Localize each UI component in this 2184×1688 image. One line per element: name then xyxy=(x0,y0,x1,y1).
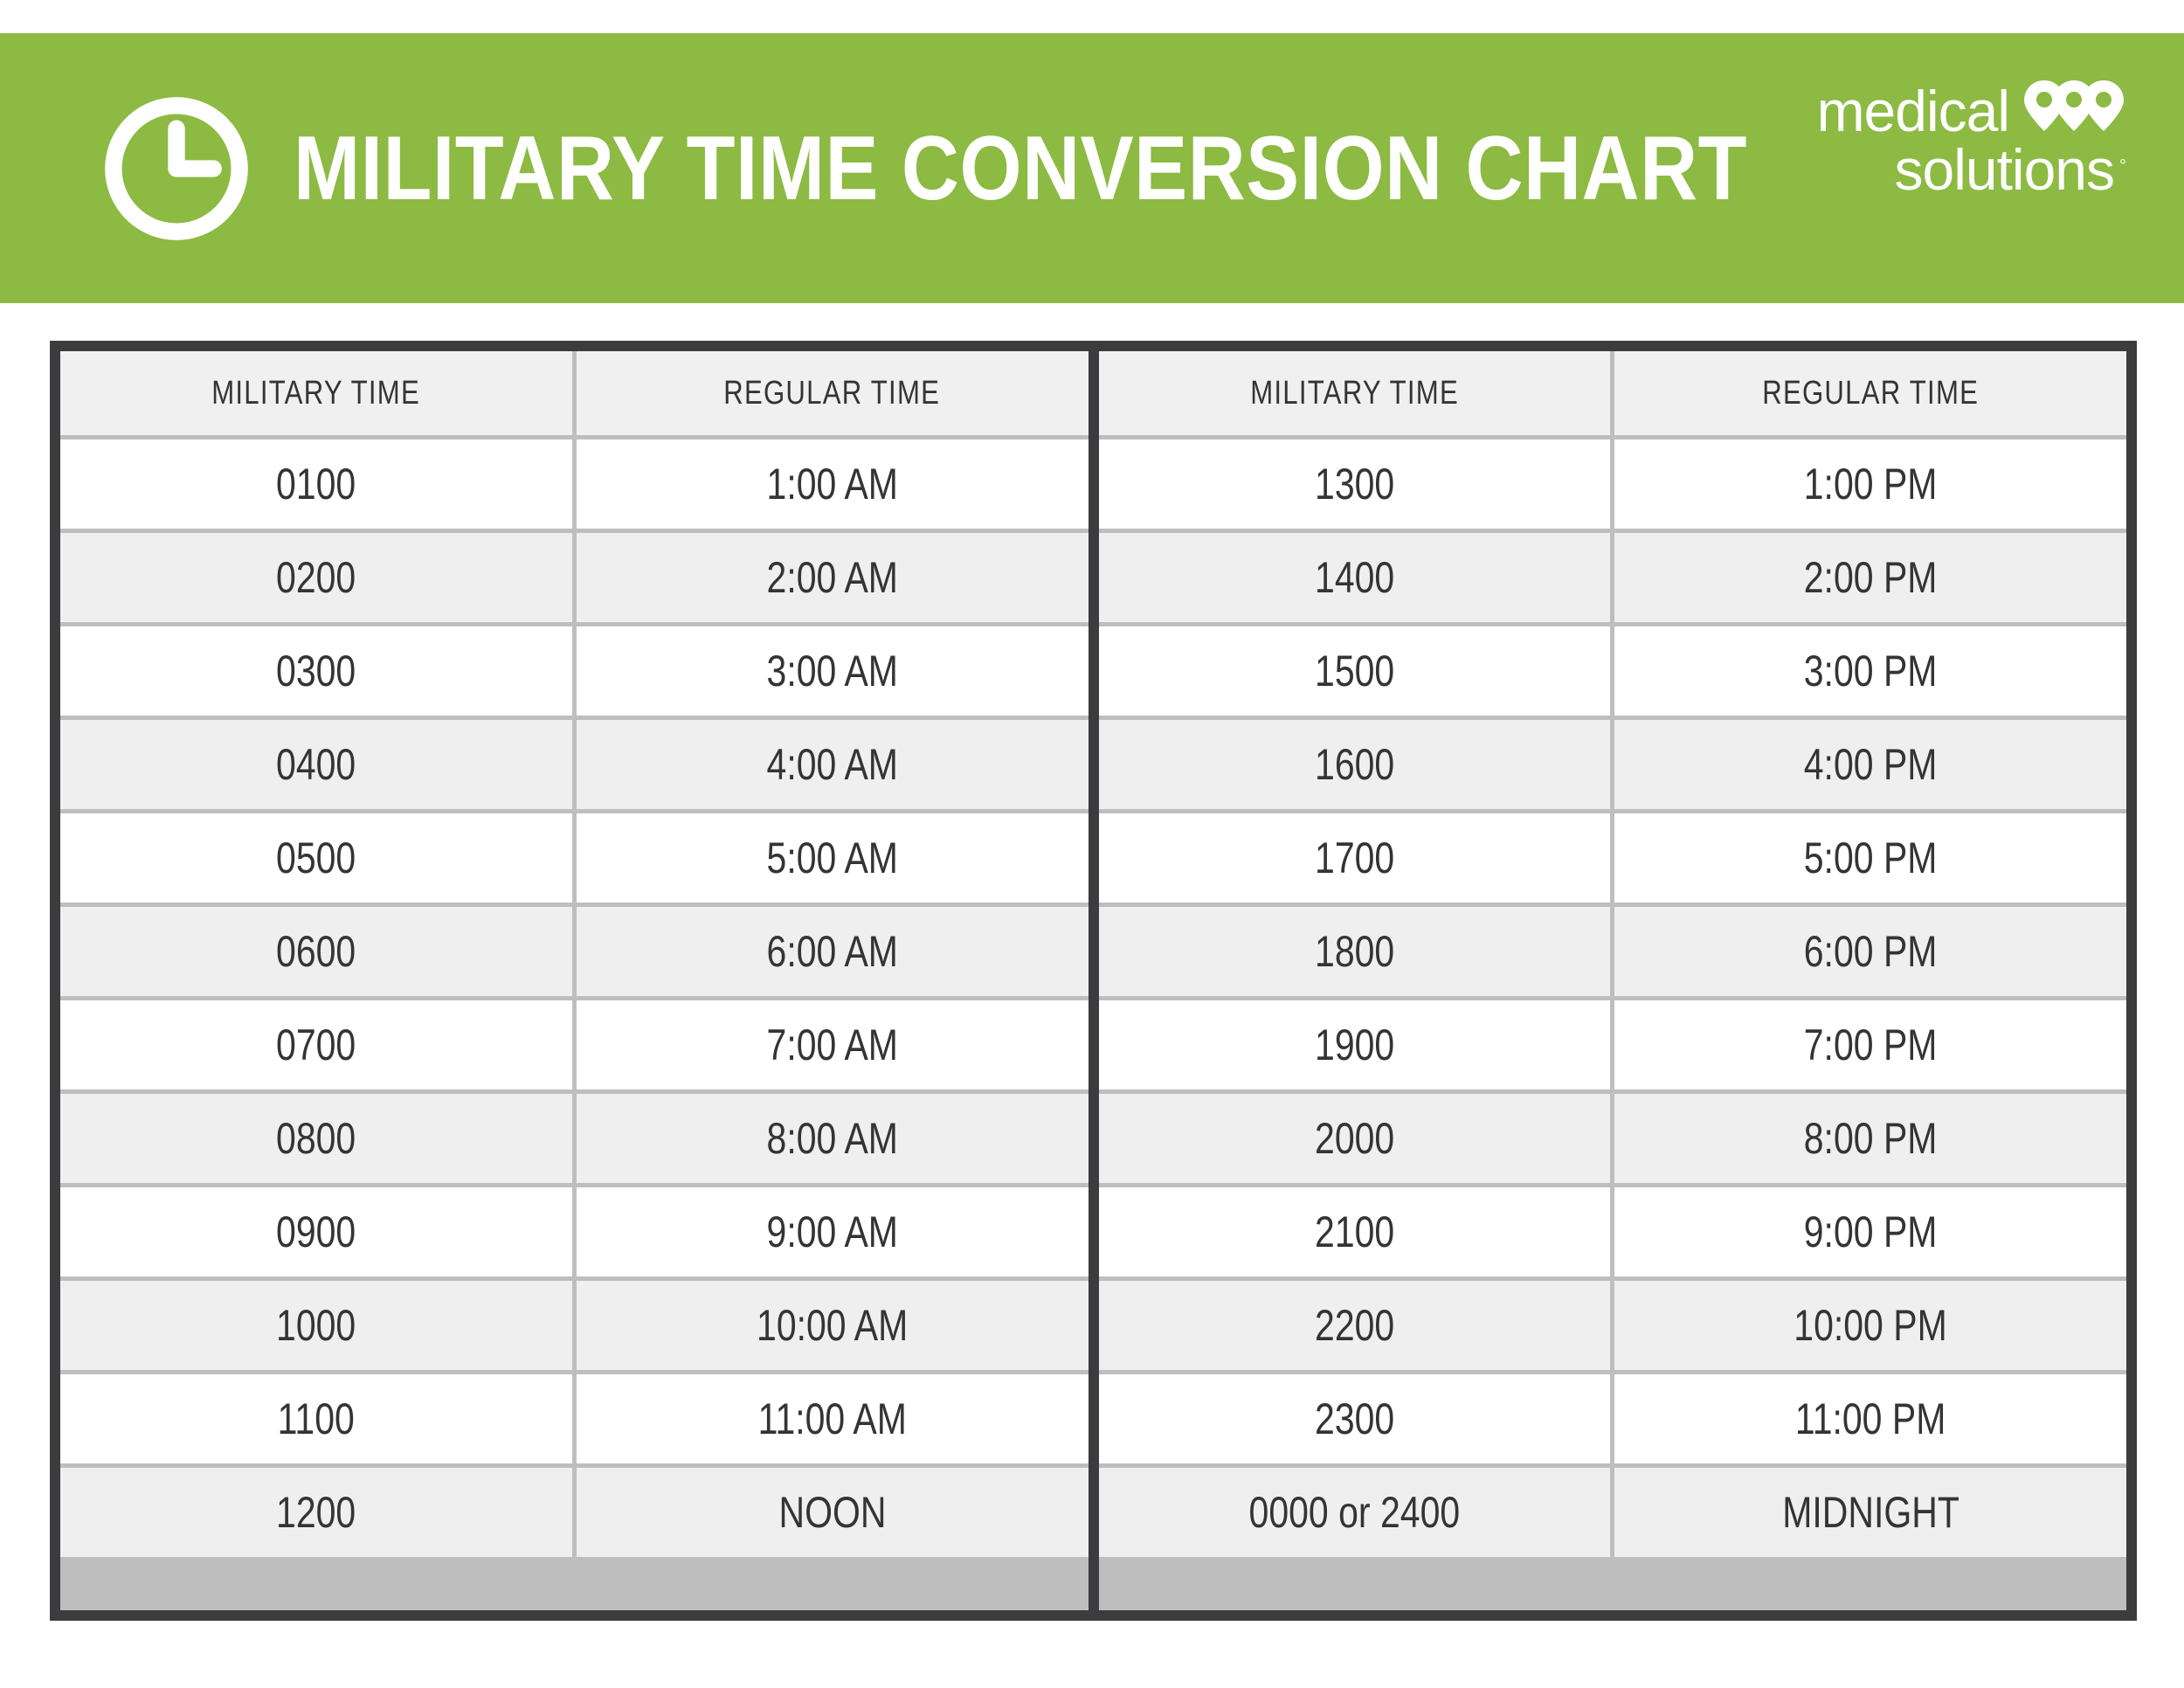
cell-value: NOON xyxy=(778,1468,886,1557)
table-row: 1200NOON xyxy=(60,1468,1089,1557)
cell-military-time: 1900 xyxy=(1099,1000,1611,1090)
cell-value: 2100 xyxy=(1315,1187,1394,1276)
cell-regular-time: 11:00 AM xyxy=(577,1374,1089,1463)
cell-regular-time: 5:00 PM xyxy=(1614,813,2126,903)
military-time-conversion-chart-page: MILITARY TIME CONVERSION CHART medical s… xyxy=(0,0,2184,1688)
column-header-label: REGULAR TIME xyxy=(724,351,941,435)
cell-military-time: 0300 xyxy=(60,626,572,716)
cell-regular-time: 5:00 AM xyxy=(577,813,1089,903)
cell-regular-time: 2:00 PM xyxy=(1614,533,2126,622)
cell-regular-time: 2:00 AM xyxy=(577,533,1089,622)
table-row: 110011:00 AM xyxy=(60,1374,1089,1463)
cell-regular-time: 7:00 AM xyxy=(577,1000,1089,1090)
cell-value: 9:00 AM xyxy=(766,1187,897,1276)
cell-regular-time: 8:00 PM xyxy=(1614,1094,2126,1183)
table-header-row: MILITARY TIMEREGULAR TIME xyxy=(1099,351,2127,435)
cell-value: 8:00 PM xyxy=(1804,1094,1938,1183)
cell-military-time: 0200 xyxy=(60,533,572,622)
table-row: 15003:00 PM xyxy=(1099,626,2127,716)
cell-military-time: 2100 xyxy=(1099,1187,1611,1276)
cell-regular-time: 3:00 PM xyxy=(1614,626,2126,716)
table-row: 07007:00 AM xyxy=(60,1000,1089,1090)
table-row: 06006:00 AM xyxy=(60,907,1089,996)
column-header-label: MILITARY TIME xyxy=(1250,351,1459,435)
cell-military-time: 1500 xyxy=(1099,626,1611,716)
table-row: 14002:00 PM xyxy=(1099,533,2127,622)
cell-value: 2300 xyxy=(1315,1374,1394,1463)
cell-value: 0600 xyxy=(276,907,356,996)
cell-value: 1800 xyxy=(1315,907,1394,996)
cell-military-time: 1700 xyxy=(1099,813,1611,903)
cell-value: 0300 xyxy=(276,626,356,716)
cell-regular-time: 10:00 PM xyxy=(1614,1281,2126,1370)
cell-regular-time: 9:00 PM xyxy=(1614,1187,2126,1276)
cell-value: 1:00 PM xyxy=(1804,439,1938,529)
cell-military-time: 1300 xyxy=(1099,439,1611,529)
cell-value: 1700 xyxy=(1315,813,1394,903)
brand-name-line-2: solutions xyxy=(1895,143,2115,197)
cell-value: 3:00 AM xyxy=(766,626,897,716)
header-left-group: MILITARY TIME CONVERSION CHART xyxy=(100,92,1946,246)
cell-value: 5:00 AM xyxy=(766,813,897,903)
table-center-divider xyxy=(1089,351,1099,1610)
brand-line-1-row: medical xyxy=(1817,79,2126,138)
cell-military-time: 2000 xyxy=(1099,1094,1611,1183)
column-header-military-time: MILITARY TIME xyxy=(1099,351,1611,435)
cell-value: 8:00 AM xyxy=(766,1094,897,1183)
cell-military-time: 1600 xyxy=(1099,720,1611,809)
cell-regular-time: 8:00 AM xyxy=(577,1094,1089,1183)
cell-regular-time: 1:00 AM xyxy=(577,439,1089,529)
cell-value: 0400 xyxy=(276,720,356,809)
cell-value: 4:00 PM xyxy=(1804,720,1938,809)
cell-value: 10:00 AM xyxy=(757,1281,908,1370)
table-row: 19007:00 PM xyxy=(1099,1000,2127,1090)
registered-trademark-mark: ° xyxy=(2119,157,2126,175)
cell-regular-time: 3:00 AM xyxy=(577,626,1089,716)
column-header-regular-time: REGULAR TIME xyxy=(1614,351,2126,435)
column-header-regular-time: REGULAR TIME xyxy=(577,351,1089,435)
cell-value: 0700 xyxy=(276,1000,356,1090)
column-header-label: REGULAR TIME xyxy=(1762,351,1979,435)
cell-value: 10:00 PM xyxy=(1794,1281,1946,1370)
brand-logo: medical solutions ° xyxy=(1817,79,2126,197)
table-row: 20008:00 PM xyxy=(1099,1094,2127,1183)
cell-value: 2:00 AM xyxy=(766,533,897,622)
cell-military-time: 2300 xyxy=(1099,1374,1611,1463)
cell-value: 2200 xyxy=(1315,1281,1394,1370)
table-row: 03003:00 AM xyxy=(60,626,1089,716)
table-row: 17005:00 PM xyxy=(1099,813,2127,903)
table-row: 13001:00 PM xyxy=(1099,439,2127,529)
cell-regular-time: MIDNIGHT xyxy=(1614,1468,2126,1557)
cell-military-time: 0500 xyxy=(60,813,572,903)
cell-value: 7:00 PM xyxy=(1804,1000,1938,1090)
cell-regular-time: 11:00 PM xyxy=(1614,1374,2126,1463)
three-map-pins-icon xyxy=(2022,79,2126,133)
table-row: 04004:00 AM xyxy=(60,720,1089,809)
table-row: 16004:00 PM xyxy=(1099,720,2127,809)
cell-military-time: 1100 xyxy=(60,1374,572,1463)
table-row: 220010:00 PM xyxy=(1099,1281,2127,1370)
cell-military-time: 1400 xyxy=(1099,533,1611,622)
cell-value: 1200 xyxy=(276,1468,356,1557)
cell-value: 1100 xyxy=(278,1374,355,1463)
table-row: 05005:00 AM xyxy=(60,813,1089,903)
cell-military-time: 0100 xyxy=(60,439,572,529)
table-row: 21009:00 PM xyxy=(1099,1187,2127,1276)
cell-regular-time: 9:00 AM xyxy=(577,1187,1089,1276)
cell-value: 0800 xyxy=(276,1094,356,1183)
cell-value: 6:00 PM xyxy=(1804,907,1938,996)
conversion-table-frame: MILITARY TIMEREGULAR TIME01001:00 AM0200… xyxy=(50,341,2137,1621)
cell-military-time: 0800 xyxy=(60,1094,572,1183)
table-row: 09009:00 AM xyxy=(60,1187,1089,1276)
table-row: 02002:00 AM xyxy=(60,533,1089,622)
cell-regular-time: 4:00 PM xyxy=(1614,720,2126,809)
cell-regular-time: NOON xyxy=(577,1468,1089,1557)
cell-military-time: 0000 or 2400 xyxy=(1099,1468,1611,1557)
cell-value: 1300 xyxy=(1315,439,1394,529)
table-row: 0000 or 2400MIDNIGHT xyxy=(1099,1468,2127,1557)
brand-name-line-1: medical xyxy=(1817,85,2009,138)
left-conversion-table: MILITARY TIMEREGULAR TIME01001:00 AM0200… xyxy=(60,351,1089,1610)
cell-regular-time: 1:00 PM xyxy=(1614,439,2126,529)
cell-value: 0900 xyxy=(276,1187,356,1276)
cell-value: 2:00 PM xyxy=(1804,533,1938,622)
cell-value: 1900 xyxy=(1315,1000,1394,1090)
cell-value: 3:00 PM xyxy=(1804,626,1938,716)
table-row: 230011:00 PM xyxy=(1099,1374,2127,1463)
cell-value: 6:00 AM xyxy=(766,907,897,996)
cell-regular-time: 4:00 AM xyxy=(577,720,1089,809)
cell-value: 1:00 AM xyxy=(766,439,897,529)
cell-value: 0200 xyxy=(276,533,356,622)
cell-military-time: 1000 xyxy=(60,1281,572,1370)
cell-value: 7:00 AM xyxy=(766,1000,897,1090)
cell-value: 1000 xyxy=(276,1281,356,1370)
column-header-label: MILITARY TIME xyxy=(211,351,420,435)
clock-icon xyxy=(100,92,253,246)
cell-military-time: 0600 xyxy=(60,907,572,996)
cell-value: 1400 xyxy=(1315,533,1394,622)
table-row: 100010:00 AM xyxy=(60,1281,1089,1370)
cell-value: 0500 xyxy=(276,813,356,903)
cell-value: 0100 xyxy=(276,439,356,529)
table-row: 18006:00 PM xyxy=(1099,907,2127,996)
cell-military-time: 0400 xyxy=(60,720,572,809)
right-conversion-table: MILITARY TIMEREGULAR TIME13001:00 PM1400… xyxy=(1099,351,2127,1610)
cell-military-time: 0700 xyxy=(60,1000,572,1090)
cell-value: MIDNIGHT xyxy=(1782,1468,1959,1557)
table-row: 01001:00 AM xyxy=(60,439,1089,529)
cell-military-time: 1800 xyxy=(1099,907,1611,996)
cell-regular-time: 6:00 PM xyxy=(1614,907,2126,996)
cell-value: 11:00 PM xyxy=(1795,1374,1946,1463)
cell-regular-time: 10:00 AM xyxy=(577,1281,1089,1370)
cell-military-time: 2200 xyxy=(1099,1281,1611,1370)
cell-military-time: 1200 xyxy=(60,1468,572,1557)
cell-value: 1500 xyxy=(1315,626,1394,716)
cell-value: 11:00 AM xyxy=(758,1374,907,1463)
cell-value: 0000 or 2400 xyxy=(1249,1468,1461,1557)
table-header-row: MILITARY TIMEREGULAR TIME xyxy=(60,351,1089,435)
cell-value: 9:00 PM xyxy=(1804,1187,1938,1276)
cell-value: 5:00 PM xyxy=(1804,813,1938,903)
cell-value: 2000 xyxy=(1315,1094,1394,1183)
cell-regular-time: 6:00 AM xyxy=(577,907,1089,996)
brand-line-2-row: solutions ° xyxy=(1817,143,2126,197)
cell-value: 4:00 AM xyxy=(766,720,897,809)
column-header-military-time: MILITARY TIME xyxy=(60,351,572,435)
cell-value: 1600 xyxy=(1315,720,1394,809)
cell-regular-time: 7:00 PM xyxy=(1614,1000,2126,1090)
page-title: MILITARY TIME CONVERSION CHART xyxy=(294,123,1747,214)
cell-military-time: 0900 xyxy=(60,1187,572,1276)
table-row: 08008:00 AM xyxy=(60,1094,1089,1183)
